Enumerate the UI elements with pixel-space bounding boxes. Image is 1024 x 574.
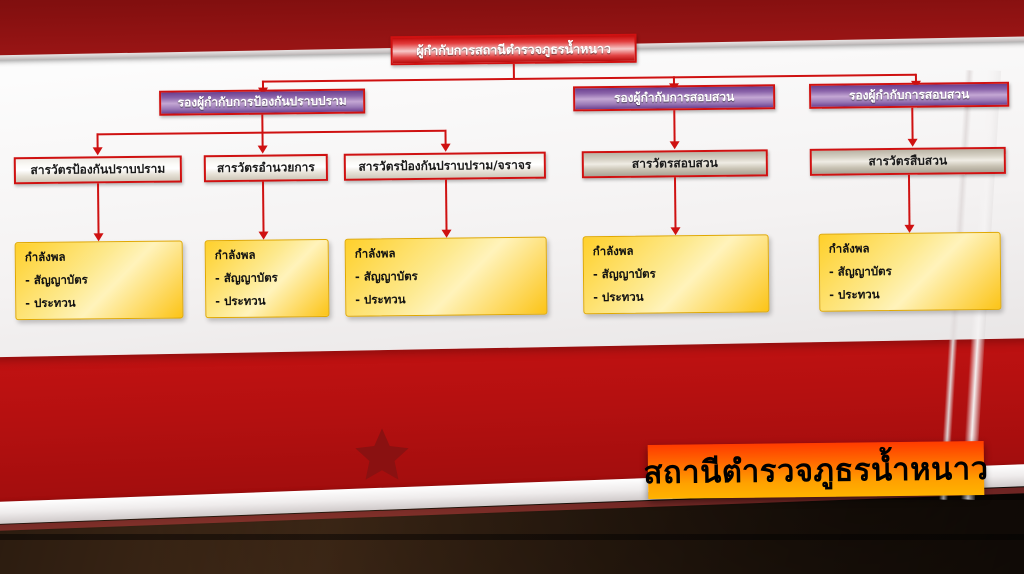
node-deputy-investigation-1-label: รองผู้กำกับการสอบสวน: [614, 90, 734, 106]
connector-n1-to-n4: [96, 133, 98, 148]
node-inspector-inquiry[interactable]: สารวัตรสอบสวน: [582, 149, 768, 178]
staff-line-noncommissioned: - ประทวน: [25, 295, 173, 310]
staff-heading: กำลังพล: [593, 243, 759, 259]
node-inspector-traffic-label: สารวัตรป้องกันปราบปราม/จราจร: [358, 158, 531, 174]
node-inspector-inquiry-label: สารวัตรสอบสวน: [632, 156, 718, 171]
staff-line-noncommissioned: - ประทวน: [829, 287, 991, 302]
connector-l1-bus: [262, 74, 916, 83]
node-inspector-detective[interactable]: สารวัตรสืบสวน: [810, 147, 1006, 176]
node-inspector-prevention[interactable]: สารวัตรป้องกันปราบปราม: [14, 155, 182, 184]
slide-canvas: ผู้กำกับการสถานีตำรวจภูธรน้ำหนาว รองผู้ก…: [0, 0, 1024, 574]
node-commander-label: ผู้กำกับการสถานีตำรวจภูธรน้ำหนาว: [416, 41, 611, 58]
arrowhead-to-n8: [908, 139, 918, 147]
arrowhead-to-n12: [671, 227, 681, 235]
staff-line-noncommissioned: - ประทวน: [355, 291, 537, 307]
node-inspector-admin[interactable]: สารวัตรอำนวยการ: [204, 154, 328, 182]
staff-line-commissioned: - สัญญาบัตร: [593, 266, 759, 282]
connector-n3-to-n8: [911, 108, 913, 140]
connector-n8-to-n13: [908, 175, 911, 226]
staff-line-commissioned: - สัญญาบัตร: [25, 272, 173, 287]
arrowhead-to-n10: [259, 232, 269, 240]
connector-n4-to-n9: [97, 183, 100, 234]
node-staff-detective[interactable]: กำลังพล - สัญญาบัตร - ประทวน: [819, 232, 1002, 312]
node-deputy-prevention[interactable]: รองผู้กำกับการป้องกันปราบปราม: [159, 89, 365, 116]
staff-line-commissioned: - สัญญาบัตร: [829, 264, 991, 279]
node-staff-prevention[interactable]: กำลังพล - สัญญาบัตร - ประทวน: [15, 240, 184, 320]
station-title-text: สถานีตำรวจภูธรน้ำหนาว: [643, 443, 989, 497]
arrowhead-to-n11: [442, 230, 452, 238]
node-staff-admin[interactable]: กำลังพล - สัญญาบัตร - ประทวน: [205, 239, 330, 318]
connector-n2-to-n7: [673, 110, 675, 142]
arrowhead-to-n4: [93, 147, 103, 155]
node-commander[interactable]: ผู้กำกับการสถานีตำรวจภูธรน้ำหนาว: [390, 34, 636, 66]
connector-n7-to-n12: [674, 177, 677, 228]
staff-line-commissioned: - สัญญาบัตร: [355, 269, 537, 285]
arrowhead-to-n13: [904, 225, 914, 233]
connector-n1-trunk: [261, 115, 263, 133]
arrowhead-to-n5: [258, 146, 268, 154]
staff-line-noncommissioned: - ประทวน: [593, 289, 759, 305]
arrowhead-to-n6: [441, 144, 451, 152]
connector-n6-to-n11: [445, 180, 448, 231]
node-deputy-investigation-1[interactable]: รองผู้กำกับการสอบสวน: [573, 84, 775, 111]
arrowhead-to-n9: [94, 233, 104, 241]
connector-n1-to-n5: [261, 132, 263, 147]
node-inspector-admin-label: สารวัตรอำนวยการ: [217, 160, 315, 175]
node-deputy-prevention-label: รองผู้กำกับการป้องกันปราบปราม: [178, 94, 347, 110]
node-deputy-investigation-2[interactable]: รองผู้กำกับการสอบสวน: [809, 82, 1009, 109]
node-inspector-prevention-label: สารวัตรป้องกันปราบปราม: [30, 162, 165, 178]
connector-l1-trunk: [513, 64, 515, 79]
staff-line-noncommissioned: - ประทวน: [215, 294, 319, 309]
connector-n1-to-n6: [444, 130, 446, 145]
staff-heading: กำลังพล: [25, 250, 173, 265]
arrowhead-to-n7: [670, 141, 680, 149]
node-staff-traffic[interactable]: กำลังพล - สัญญาบัตร - ประทวน: [345, 237, 548, 317]
node-inspector-traffic[interactable]: สารวัตรป้องกันปราบปราม/จราจร: [344, 152, 546, 181]
staff-heading: กำลังพล: [829, 241, 991, 256]
staff-line-commissioned: - สัญญาบัตร: [215, 271, 319, 286]
node-staff-inquiry[interactable]: กำลังพล - สัญญาบัตร - ประทวน: [583, 234, 770, 314]
connector-n5-to-n10: [262, 182, 265, 233]
station-title-banner: สถานีตำรวจภูธรน้ำหนาว: [648, 441, 985, 499]
staff-heading: กำลังพล: [215, 248, 319, 263]
connector-n1-bus: [96, 130, 444, 136]
staff-heading: กำลังพล: [355, 246, 537, 262]
node-deputy-investigation-2-label: รองผู้กำกับการสอบสวน: [849, 88, 969, 104]
node-inspector-detective-label: สารวัตรสืบสวน: [868, 154, 947, 169]
